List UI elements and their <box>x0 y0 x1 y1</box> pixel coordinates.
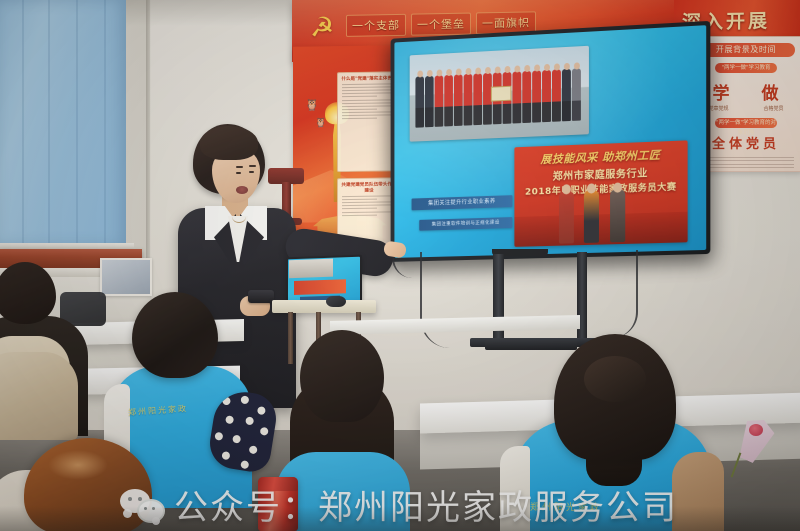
chart-sub-label: 合格党员 <box>763 105 783 112</box>
bottom-gradient <box>0 506 800 531</box>
hammer-and-sickle-icon: ☭ <box>310 13 340 44</box>
window-curtain <box>0 0 126 246</box>
laptop-slide-banner <box>294 279 346 295</box>
tv-screen: 展技能风采 助郑州工匠 郑州市家庭服务行业 2018年度职业技能家政服务员大赛 … <box>394 25 706 258</box>
chart-big-text: 学 做 <box>703 79 800 104</box>
tv-stand-column <box>577 252 587 344</box>
banner-chip: 一个支部 <box>346 14 406 37</box>
laptop-screen <box>288 257 360 304</box>
laptop-slide-photo <box>289 259 333 279</box>
certificate-icon <box>491 86 512 102</box>
attendee-back-left-coat <box>0 352 78 440</box>
power-strip <box>485 340 577 350</box>
presenter-mouth <box>236 186 248 194</box>
laptop[interactable] <box>286 255 362 306</box>
photo-scene: ☭ 一个支部 一个堡垒 一面旗帜 深入开展 🦉 🦉 什么是"党建"落实主体责任 … <box>0 0 800 531</box>
attendee-center-head <box>132 292 218 378</box>
slide-group-photo <box>410 46 589 142</box>
stage-floor <box>514 212 687 247</box>
attendee-orange-hair-highlight <box>48 450 108 480</box>
attendee-front-bun <box>584 356 646 402</box>
presentation-tv[interactable]: 展技能风采 助郑州工匠 郑州市家庭服务行业 2018年度职业技能家政服务员大赛 … <box>391 21 711 262</box>
stage-person <box>610 189 625 242</box>
banner-chip: 一个堡垒 <box>411 13 471 36</box>
attendee-long-hair-head <box>300 330 384 422</box>
presenter-hair-front <box>200 126 258 160</box>
dove-icon: 🦉 <box>315 118 326 128</box>
tv-stand-column <box>493 254 504 346</box>
presentation-remote[interactable] <box>248 290 274 303</box>
stage-person <box>584 190 599 243</box>
presenter-brow <box>249 165 256 167</box>
tv-cable <box>612 250 638 338</box>
table-leg <box>288 312 293 364</box>
stage-person <box>559 191 574 244</box>
presenter-brow <box>236 166 243 168</box>
computer-mouse[interactable] <box>326 296 346 307</box>
rose-bud-icon <box>749 424 763 436</box>
presenter-necklace <box>232 210 246 223</box>
chart-pill-mid: "两学一做"学习教育的对象范围 <box>715 118 777 128</box>
tv-cable <box>420 252 450 348</box>
dove-icon: 🦉 <box>305 98 319 111</box>
chart-pill-top: "两学一做"学习教育 <box>715 63 777 73</box>
wall-picture-frame <box>100 258 152 296</box>
slide-stage-photo: 展技能风采 助郑州工匠 郑州市家庭服务行业 2018年度职业技能家政服务员大赛 <box>514 140 687 247</box>
